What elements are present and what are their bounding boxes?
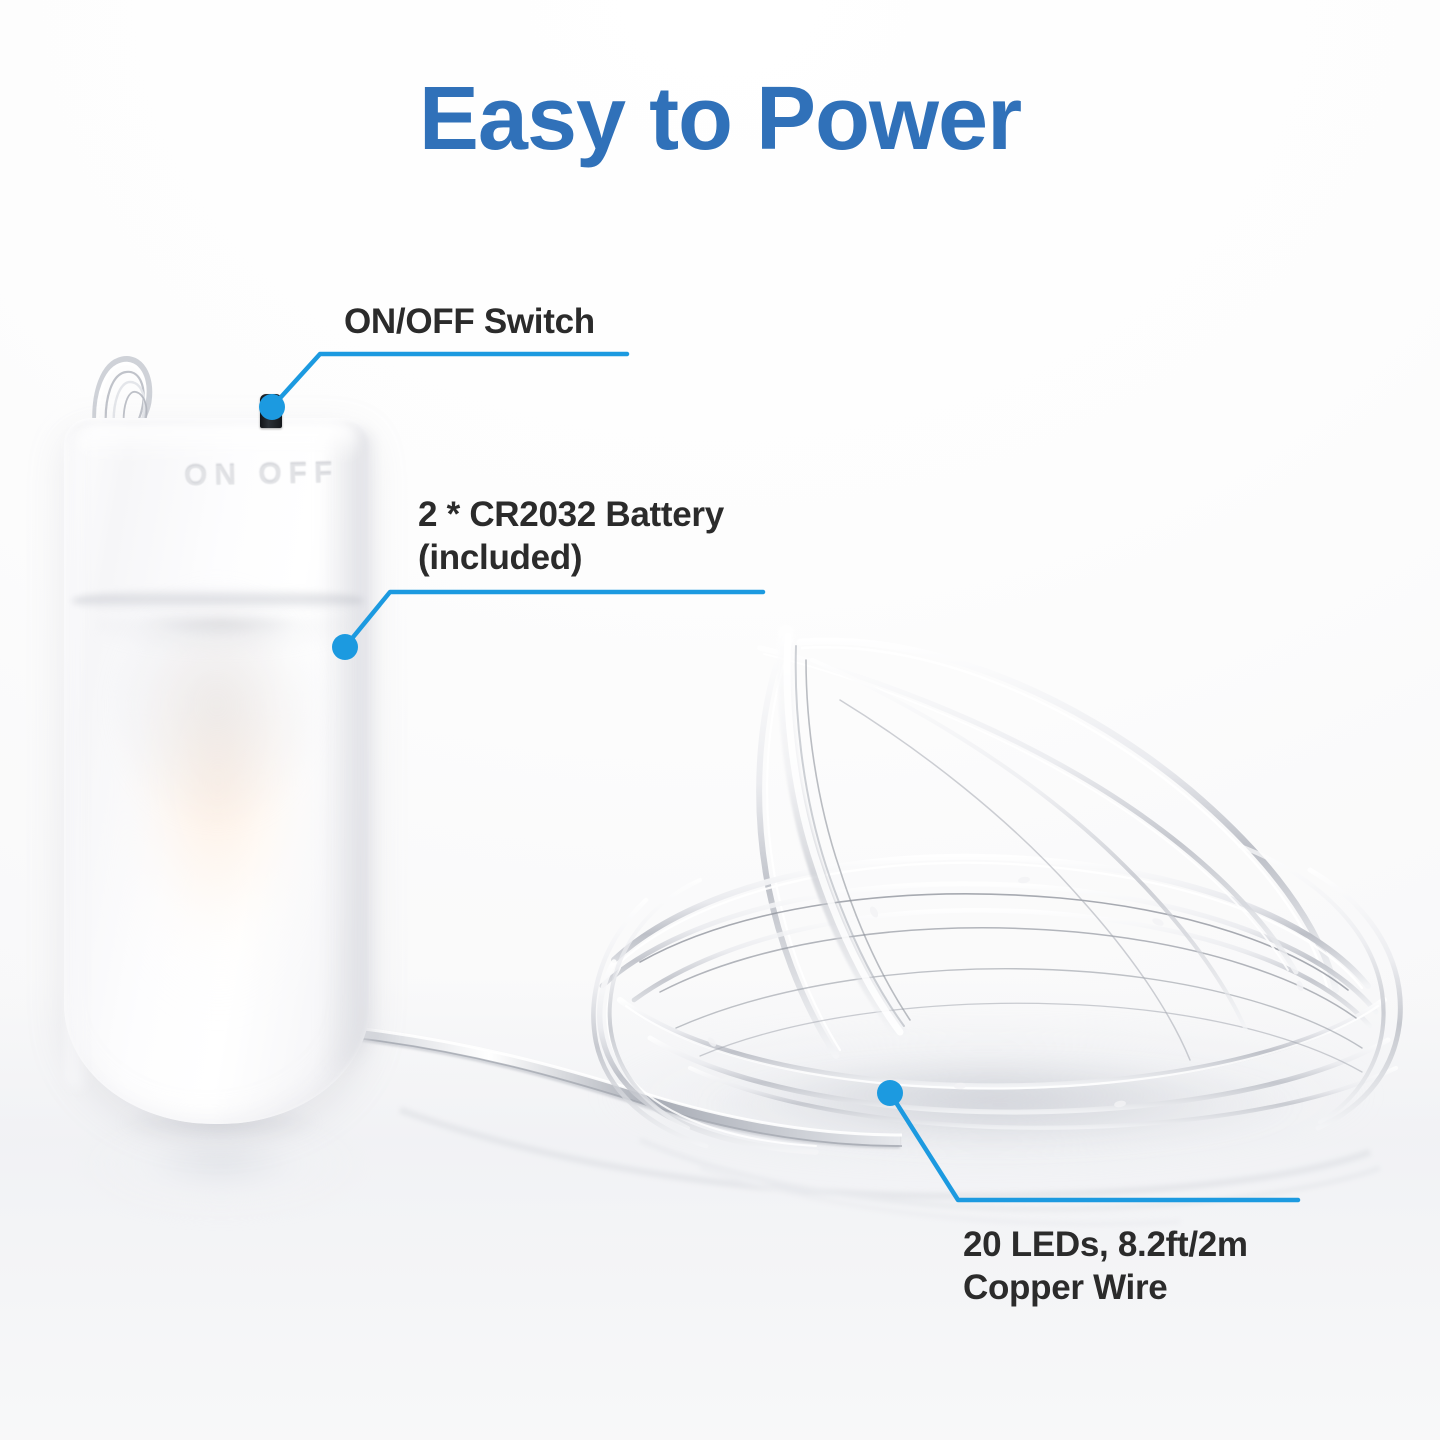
embossed-on-off-text: ON OFF	[184, 456, 340, 493]
callout-label-leds: 20 LEDs, 8.2ft/2m Copper Wire	[963, 1224, 1248, 1309]
callout-dot-switch[interactable]	[259, 394, 285, 420]
battery-case-seam-shadow	[96, 618, 346, 658]
page-title: Easy to Power	[0, 72, 1440, 167]
battery-case-right-shading	[322, 432, 370, 1072]
battery-case-seam	[72, 588, 364, 614]
callout-label-on-off-switch: ON/OFF Switch	[344, 301, 595, 344]
battery-case-left-highlight	[66, 430, 92, 1090]
callout-dot-leds[interactable]	[877, 1080, 903, 1106]
callout-label-battery: 2 * CR2032 Battery (included)	[418, 494, 724, 579]
callout-dot-battery[interactable]	[332, 634, 358, 660]
infographic-canvas: ON OFF Easy to Power ON/OFF Switch 2 * C…	[0, 0, 1440, 1440]
